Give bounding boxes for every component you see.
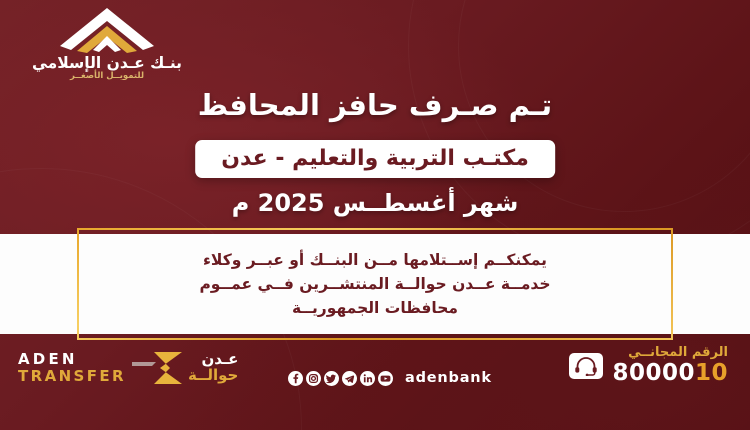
facebook-icon[interactable] xyxy=(288,371,303,386)
bank-logo: بنـك عـدن الإسلامي للتمويــل الأصغــر xyxy=(22,6,192,83)
hotline-text-group: الرقم المجانــي 8000010 xyxy=(612,346,728,385)
telegram-icon[interactable] xyxy=(342,371,357,386)
aden-transfer-en-line2: TRANSFER xyxy=(18,369,126,384)
headline-text: تـم صـرف حافز المحافظ xyxy=(0,88,750,122)
background-arc-decoration xyxy=(408,0,750,262)
note-box: يمكنكــم إســتلامها مــن البنــك أو عبــ… xyxy=(77,228,673,340)
office-name-badge: مكتـب التربية والتعليم - عدن xyxy=(195,140,555,178)
aden-transfer-logo: ADEN TRANSFER عـدن حوالــة xyxy=(18,348,238,388)
aden-transfer-en-line1: ADEN xyxy=(18,352,126,367)
office-name-text: مكتـب التربية والتعليم - عدن xyxy=(221,146,529,171)
bank-tagline-ar: للتمويــل الأصغــر xyxy=(22,71,192,83)
footer: ADEN TRANSFER عـدن حوالــة xyxy=(0,334,750,430)
note-line: محافظات الجمهوريــة xyxy=(93,296,657,320)
twitter-icon[interactable] xyxy=(324,371,339,386)
note-line: خدمــة عــدن حوالــة المنتشــرين فــي عم… xyxy=(93,272,657,296)
bank-name-ar: بنـك عـدن الإسلامي xyxy=(22,55,192,71)
poster-canvas: بنـك عـدن الإسلامي للتمويــل الأصغــر تـ… xyxy=(0,0,750,430)
gold-arrow-chevron-icon xyxy=(130,348,184,388)
note-line: يمكنكــم إســتلامها مــن البنــك أو عبــ… xyxy=(93,248,657,272)
social-links: adenbank xyxy=(288,370,492,386)
linkedin-icon[interactable] xyxy=(360,371,375,386)
hotline-number-accent: 10 xyxy=(695,360,728,386)
headset-icon xyxy=(569,353,603,379)
period-text: شهر أغسطــس 2025 م xyxy=(0,189,750,217)
hotline-label: الرقم المجانــي xyxy=(612,346,728,360)
social-handle-text: adenbank xyxy=(405,370,492,386)
aden-transfer-en: ADEN TRANSFER xyxy=(18,352,126,384)
hotline-block: الرقم المجانــي 8000010 xyxy=(569,346,728,385)
aden-transfer-ar: عـدن حوالــة xyxy=(188,352,238,384)
note-text-group: يمكنكــم إســتلامها مــن البنــك أو عبــ… xyxy=(79,248,671,320)
chevron-mountain-logo-icon xyxy=(57,6,157,54)
youtube-icon[interactable] xyxy=(378,371,393,386)
instagram-icon[interactable] xyxy=(306,371,321,386)
hotline-number: 8000010 xyxy=(612,361,728,385)
aden-transfer-ar-line2: حوالــة xyxy=(188,368,238,384)
hotline-number-main: 80000 xyxy=(612,360,695,386)
